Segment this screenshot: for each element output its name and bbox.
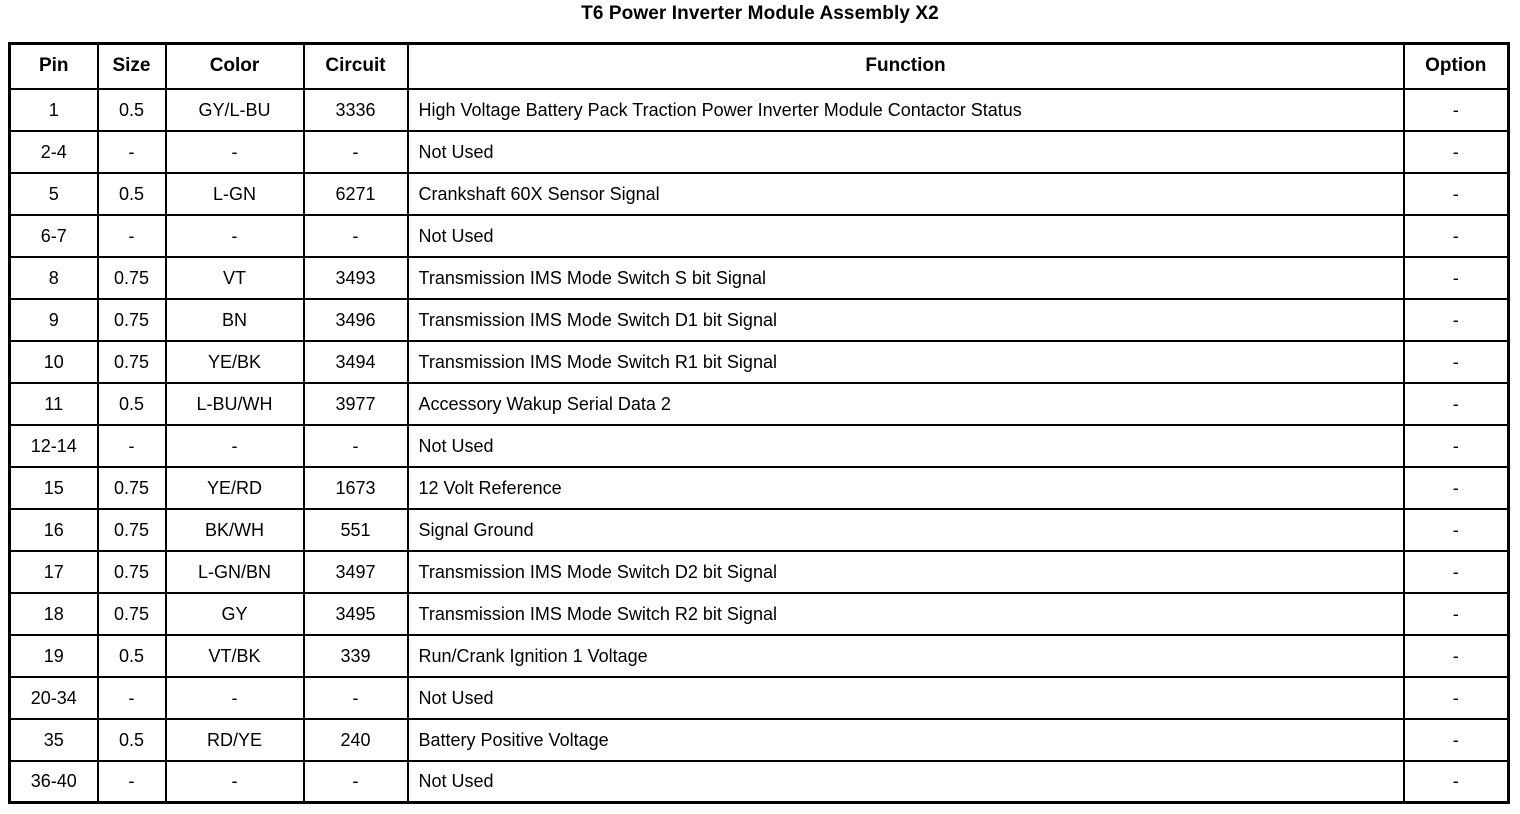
cell-function: Not Used: [408, 425, 1404, 467]
cell-function: Run/Crank Ignition 1 Voltage: [408, 635, 1404, 677]
table-row: 160.75BK/WH551Signal Ground-: [10, 509, 1509, 551]
table-row: 170.75L-GN/BN3497Transmission IMS Mode S…: [10, 551, 1509, 593]
table-row: 100.75YE/BK3494Transmission IMS Mode Swi…: [10, 341, 1509, 383]
cell-size: 0.5: [98, 635, 166, 677]
cell-option: -: [1404, 551, 1509, 593]
cell-function: Not Used: [408, 215, 1404, 257]
cell-circuit: 1673: [304, 467, 408, 509]
table-row: 180.75GY3495Transmission IMS Mode Switch…: [10, 593, 1509, 635]
cell-option: -: [1404, 425, 1509, 467]
cell-color: -: [166, 215, 304, 257]
cell-size: 0.75: [98, 593, 166, 635]
column-header-pin: Pin: [10, 44, 98, 89]
column-header-size: Size: [98, 44, 166, 89]
cell-function: Battery Positive Voltage: [408, 719, 1404, 761]
table-row: 6-7---Not Used-: [10, 215, 1509, 257]
cell-size: 0.75: [98, 299, 166, 341]
cell-circuit: 3336: [304, 89, 408, 131]
cell-pin: 1: [10, 89, 98, 131]
cell-function: Not Used: [408, 131, 1404, 173]
table-body: 10.5GY/L-BU3336High Voltage Battery Pack…: [10, 89, 1509, 803]
cell-color: GY/L-BU: [166, 89, 304, 131]
table-row: 2-4---Not Used-: [10, 131, 1509, 173]
cell-color: GY: [166, 593, 304, 635]
cell-size: 0.75: [98, 257, 166, 299]
cell-pin: 11: [10, 383, 98, 425]
cell-circuit: -: [304, 215, 408, 257]
cell-pin: 35: [10, 719, 98, 761]
cell-pin: 10: [10, 341, 98, 383]
cell-function: Signal Ground: [408, 509, 1404, 551]
cell-color: YE/RD: [166, 467, 304, 509]
cell-circuit: -: [304, 677, 408, 719]
table-row: 80.75VT3493Transmission IMS Mode Switch …: [10, 257, 1509, 299]
table-row: 150.75YE/RD167312 Volt Reference-: [10, 467, 1509, 509]
cell-option: -: [1404, 467, 1509, 509]
cell-pin: 20-34: [10, 677, 98, 719]
cell-size: 0.75: [98, 509, 166, 551]
cell-pin: 17: [10, 551, 98, 593]
cell-circuit: 339: [304, 635, 408, 677]
cell-size: 0.75: [98, 551, 166, 593]
cell-pin: 16: [10, 509, 98, 551]
cell-function: Not Used: [408, 761, 1404, 803]
table-row: 36-40---Not Used-: [10, 761, 1509, 803]
cell-circuit: 3497: [304, 551, 408, 593]
cell-pin: 9: [10, 299, 98, 341]
cell-option: -: [1404, 677, 1509, 719]
cell-size: -: [98, 677, 166, 719]
cell-pin: 15: [10, 467, 98, 509]
cell-color: YE/BK: [166, 341, 304, 383]
table-row: 50.5L-GN6271Crankshaft 60X Sensor Signal…: [10, 173, 1509, 215]
cell-color: -: [166, 677, 304, 719]
cell-circuit: 3496: [304, 299, 408, 341]
cell-option: -: [1404, 257, 1509, 299]
cell-function: Transmission IMS Mode Switch D1 bit Sign…: [408, 299, 1404, 341]
page-title: T6 Power Inverter Module Assembly X2: [0, 2, 1520, 26]
cell-option: -: [1404, 299, 1509, 341]
cell-option: -: [1404, 509, 1509, 551]
table-row: 110.5L-BU/WH3977Accessory Wakup Serial D…: [10, 383, 1509, 425]
cell-function: 12 Volt Reference: [408, 467, 1404, 509]
cell-option: -: [1404, 341, 1509, 383]
cell-circuit: 3495: [304, 593, 408, 635]
cell-pin: 6-7: [10, 215, 98, 257]
cell-option: -: [1404, 89, 1509, 131]
cell-pin: 36-40: [10, 761, 98, 803]
cell-pin: 8: [10, 257, 98, 299]
cell-size: -: [98, 131, 166, 173]
cell-color: RD/YE: [166, 719, 304, 761]
cell-circuit: 6271: [304, 173, 408, 215]
cell-circuit: -: [304, 131, 408, 173]
cell-option: -: [1404, 131, 1509, 173]
table-row: 20-34---Not Used-: [10, 677, 1509, 719]
column-header-circuit: Circuit: [304, 44, 408, 89]
cell-color: -: [166, 761, 304, 803]
cell-color: -: [166, 425, 304, 467]
cell-function: Not Used: [408, 677, 1404, 719]
cell-circuit: 551: [304, 509, 408, 551]
cell-pin: 2-4: [10, 131, 98, 173]
table-row: 190.5VT/BK339Run/Crank Ignition 1 Voltag…: [10, 635, 1509, 677]
cell-option: -: [1404, 719, 1509, 761]
cell-color: L-BU/WH: [166, 383, 304, 425]
cell-color: L-GN: [166, 173, 304, 215]
pinout-table: Pin Size Color Circuit Function Option 1…: [8, 42, 1510, 804]
cell-size: 0.75: [98, 467, 166, 509]
cell-function: Accessory Wakup Serial Data 2: [408, 383, 1404, 425]
cell-option: -: [1404, 635, 1509, 677]
cell-circuit: 3493: [304, 257, 408, 299]
cell-circuit: -: [304, 425, 408, 467]
cell-function: Crankshaft 60X Sensor Signal: [408, 173, 1404, 215]
cell-option: -: [1404, 383, 1509, 425]
pinout-table-wrapper: Pin Size Color Circuit Function Option 1…: [8, 42, 1508, 804]
cell-circuit: -: [304, 761, 408, 803]
table-row: 90.75BN3496Transmission IMS Mode Switch …: [10, 299, 1509, 341]
cell-circuit: 3494: [304, 341, 408, 383]
cell-color: BK/WH: [166, 509, 304, 551]
table-header: Pin Size Color Circuit Function Option: [10, 44, 1509, 89]
cell-pin: 5: [10, 173, 98, 215]
table-row: 10.5GY/L-BU3336High Voltage Battery Pack…: [10, 89, 1509, 131]
table-header-row: Pin Size Color Circuit Function Option: [10, 44, 1509, 89]
cell-size: 0.5: [98, 89, 166, 131]
cell-function: Transmission IMS Mode Switch R2 bit Sign…: [408, 593, 1404, 635]
cell-size: -: [98, 425, 166, 467]
cell-color: -: [166, 131, 304, 173]
column-header-option: Option: [1404, 44, 1509, 89]
cell-pin: 18: [10, 593, 98, 635]
cell-pin: 19: [10, 635, 98, 677]
column-header-color: Color: [166, 44, 304, 89]
cell-function: Transmission IMS Mode Switch D2 bit Sign…: [408, 551, 1404, 593]
cell-color: VT: [166, 257, 304, 299]
table-row: 12-14---Not Used-: [10, 425, 1509, 467]
cell-size: 0.5: [98, 383, 166, 425]
cell-circuit: 3977: [304, 383, 408, 425]
pinout-page: T6 Power Inverter Module Assembly X2 Pin…: [0, 0, 1520, 814]
cell-size: 0.5: [98, 719, 166, 761]
column-header-function: Function: [408, 44, 1404, 89]
cell-option: -: [1404, 593, 1509, 635]
cell-color: BN: [166, 299, 304, 341]
cell-option: -: [1404, 173, 1509, 215]
cell-function: High Voltage Battery Pack Traction Power…: [408, 89, 1404, 131]
cell-option: -: [1404, 215, 1509, 257]
cell-size: -: [98, 761, 166, 803]
cell-circuit: 240: [304, 719, 408, 761]
cell-color: VT/BK: [166, 635, 304, 677]
cell-option: -: [1404, 761, 1509, 803]
cell-size: 0.75: [98, 341, 166, 383]
cell-function: Transmission IMS Mode Switch R1 bit Sign…: [408, 341, 1404, 383]
cell-size: 0.5: [98, 173, 166, 215]
cell-color: L-GN/BN: [166, 551, 304, 593]
cell-function: Transmission IMS Mode Switch S bit Signa…: [408, 257, 1404, 299]
cell-pin: 12-14: [10, 425, 98, 467]
cell-size: -: [98, 215, 166, 257]
table-row: 350.5RD/YE240Battery Positive Voltage-: [10, 719, 1509, 761]
